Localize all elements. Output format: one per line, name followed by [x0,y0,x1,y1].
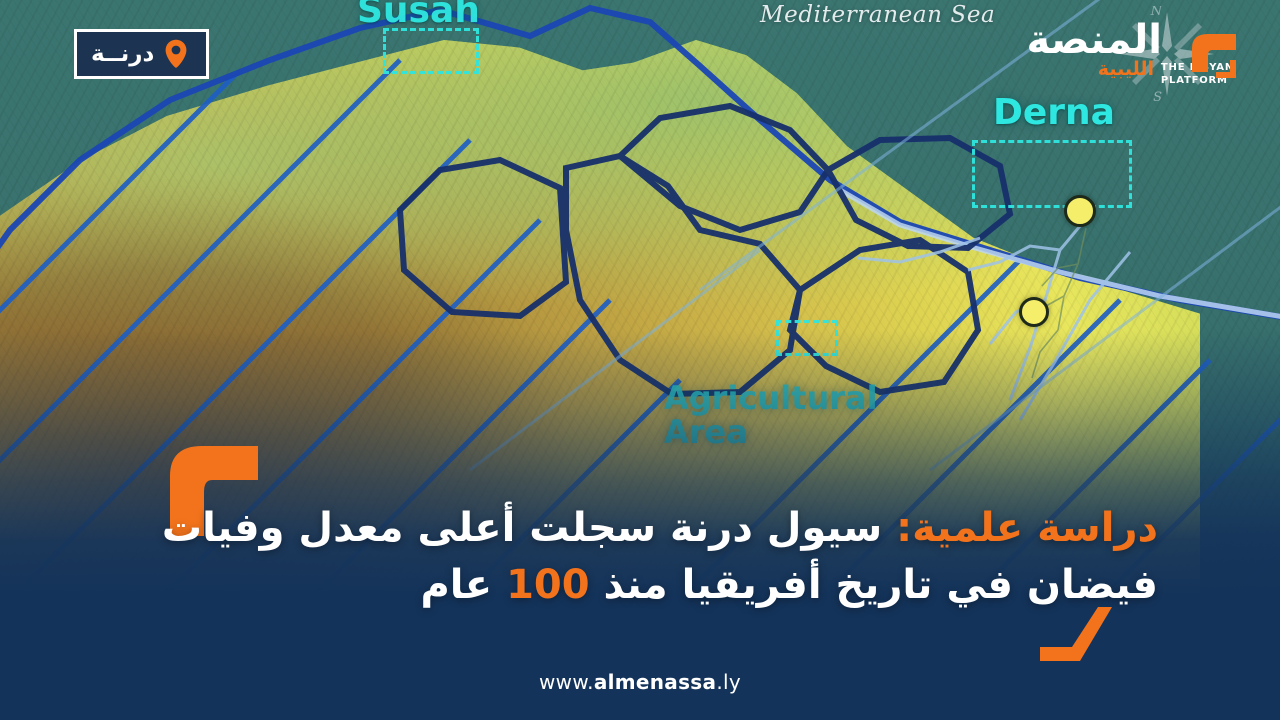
city-label-susah: Susah [357,0,480,31]
logo-arabic-sub: الليبية [1098,60,1154,79]
news-card: Mediterranean Sea Susah Derna Agricultur… [0,0,1280,720]
site-url[interactable]: www.almenassa.ly [0,670,1280,694]
location-badge-label: درنــة [91,43,154,66]
logo-mark-icon [1186,26,1248,88]
url-prefix: www. [539,670,594,694]
brand-logo[interactable]: N E S W المنصة الليبية THE LIBYAN PLATFO… [1016,4,1266,100]
headline: دراسة علمية: سيول درنة سجلت أعلى معدل وف… [158,500,1158,614]
logo-arabic-main: المنصة [1026,20,1162,60]
bracket-bottom-right-icon [1036,605,1116,663]
compass-letter-s: S [1153,90,1162,102]
flood-marker-2 [1019,297,1049,327]
study-box-derna [972,140,1132,208]
sea-label: Mediterranean Sea [760,2,995,28]
url-suffix: .ly [716,670,741,694]
headline-kicker: دراسة علمية: [896,505,1158,551]
url-brand: almenassa [594,670,717,694]
headline-number: 100 [506,562,590,608]
location-badge[interactable]: درنــة [74,29,209,79]
headline-part2: عام [420,562,506,608]
study-box-susah [383,28,479,74]
flood-marker-1 [1064,195,1096,227]
location-pin-icon [164,39,188,69]
